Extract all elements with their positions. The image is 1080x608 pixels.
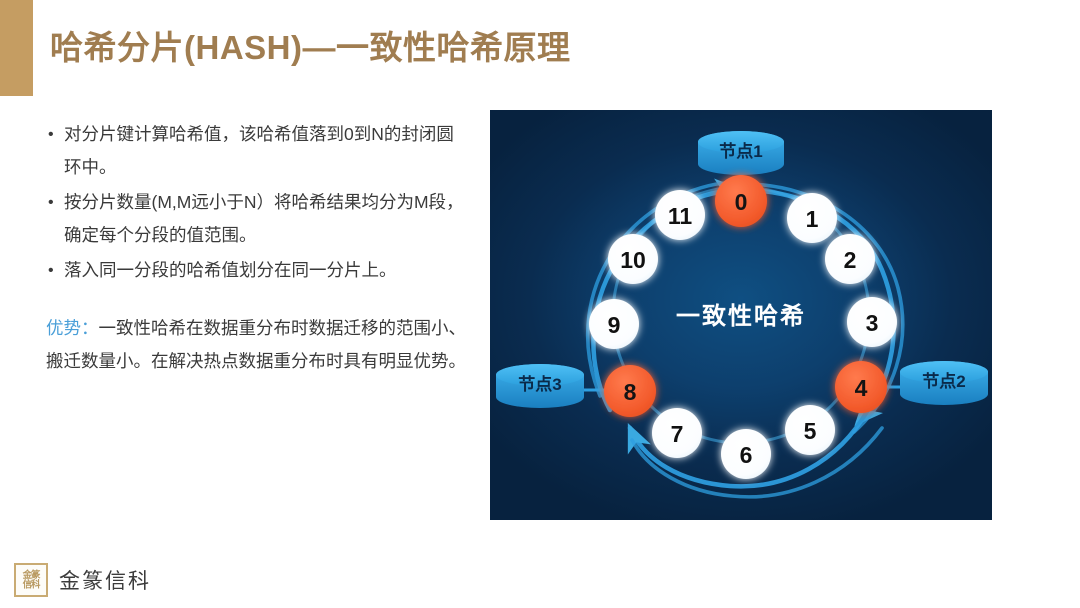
server-label-3: 节点3 bbox=[518, 374, 561, 394]
seal-icon-glyphs: 金篆 信科 bbox=[23, 571, 40, 590]
brand-name: 金篆信科 bbox=[59, 565, 151, 595]
page-title: 哈希分片(HASH)—一致性哈希原理 bbox=[50, 21, 570, 69]
hash-node-label: 8 bbox=[624, 379, 637, 405]
advantage-text: 一致性哈希在数据重分布时数据迁移的范围小、搬迁数量小。在解决热点数据重分布时具有… bbox=[46, 318, 466, 371]
list-item: 落入同一分段的哈希值划分在同一分片上。 bbox=[46, 254, 466, 287]
advantage-label: 优势： bbox=[46, 318, 99, 338]
hash-node-label: 1 bbox=[806, 206, 819, 232]
consistent-hash-diagram: 一致性哈希 节点1 节点2 节点3 bbox=[490, 110, 992, 520]
hash-node-label: 7 bbox=[671, 421, 684, 447]
hash-node-label: 2 bbox=[844, 247, 857, 273]
list-item: 对分片键计算哈希值，该哈希值落到0到N的封闭圆环中。 bbox=[46, 118, 466, 184]
server-label-2: 节点2 bbox=[922, 371, 965, 391]
hash-node-9[interactable]: 9 bbox=[589, 299, 639, 349]
hash-node-label: 4 bbox=[855, 375, 868, 401]
hash-node-7[interactable]: 7 bbox=[652, 408, 702, 458]
content-left-column: 对分片键计算哈希值，该哈希值落到0到N的封闭圆环中。 按分片数量(M,M远小于N… bbox=[46, 118, 466, 378]
server-label-1: 节点1 bbox=[719, 141, 762, 161]
slide-root: 哈希分片(HASH)—一致性哈希原理 对分片键计算哈希值，该哈希值落到0到N的封… bbox=[0, 0, 1080, 608]
hash-node-label: 3 bbox=[866, 310, 879, 336]
hash-node-1[interactable]: 1 bbox=[787, 193, 837, 243]
hash-node-label: 10 bbox=[620, 247, 646, 273]
gold-accent-bar bbox=[0, 0, 33, 96]
diagram-center-label: 一致性哈希 bbox=[676, 302, 806, 330]
hash-node-5[interactable]: 5 bbox=[785, 405, 835, 455]
hash-node-2[interactable]: 2 bbox=[825, 234, 875, 284]
hash-node-label: 6 bbox=[740, 442, 753, 468]
diagram-svg: 一致性哈希 节点1 节点2 节点3 bbox=[490, 110, 992, 520]
hash-node-11[interactable]: 11 bbox=[655, 190, 705, 240]
hash-node-4[interactable]: 4 bbox=[835, 361, 887, 413]
list-item: 按分片数量(M,M远小于N）将哈希结果均分为M段，确定每个分段的值范围。 bbox=[46, 186, 466, 252]
hash-node-0[interactable]: 0 bbox=[715, 175, 767, 227]
hash-node-label: 0 bbox=[735, 189, 748, 215]
hash-node-8[interactable]: 8 bbox=[604, 365, 656, 417]
footer-logo: 金篆 信科 金篆信科 bbox=[14, 563, 151, 597]
hash-node-3[interactable]: 3 bbox=[847, 297, 897, 347]
hash-node-label: 5 bbox=[804, 418, 817, 444]
hash-node-label: 9 bbox=[608, 312, 621, 338]
hash-node-6[interactable]: 6 bbox=[721, 429, 771, 479]
hash-node-10[interactable]: 10 bbox=[608, 234, 658, 284]
seal-icon: 金篆 信科 bbox=[14, 563, 48, 597]
advantage-paragraph: 优势：一致性哈希在数据重分布时数据迁移的范围小、搬迁数量小。在解决热点数据重分布… bbox=[46, 312, 466, 378]
hash-node-label: 11 bbox=[668, 203, 693, 229]
seal-bottom-text: 信科 bbox=[23, 580, 40, 589]
bullet-list: 对分片键计算哈希值，该哈希值落到0到N的封闭圆环中。 按分片数量(M,M远小于N… bbox=[46, 118, 466, 287]
